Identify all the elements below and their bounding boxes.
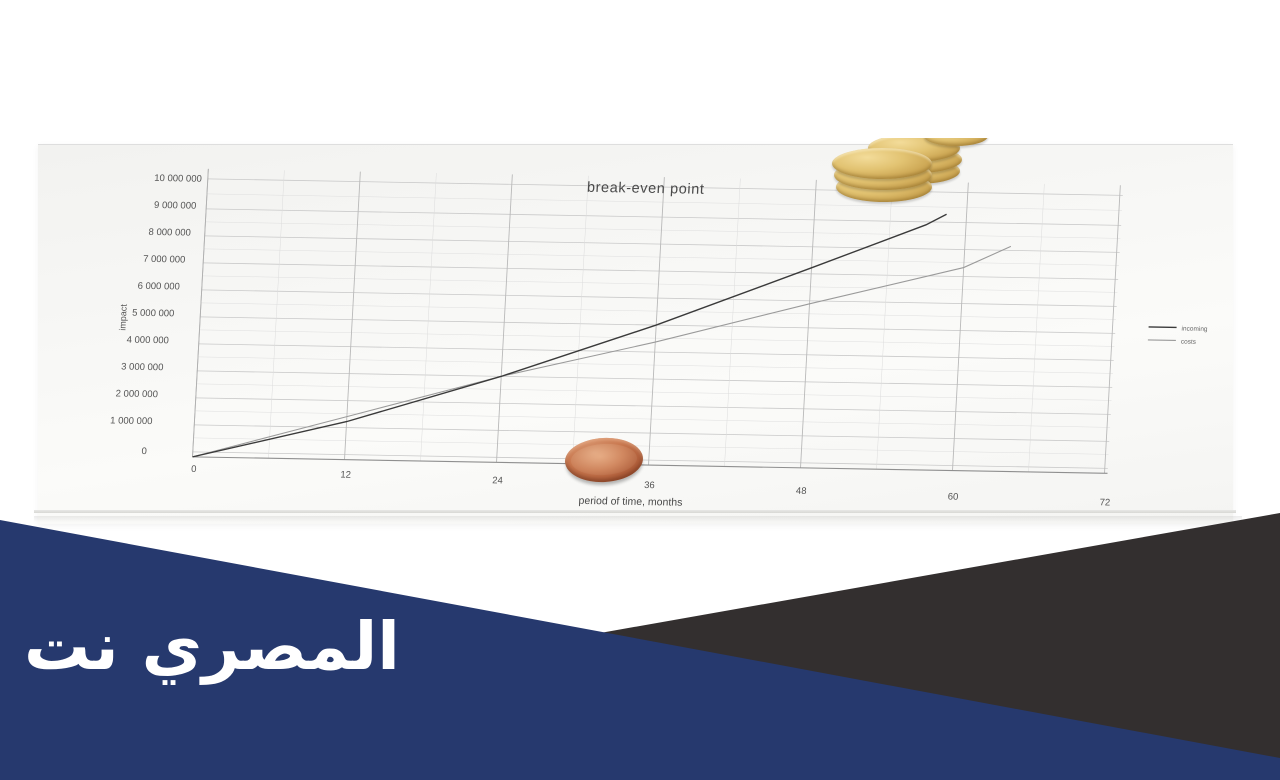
y-axis-line <box>193 169 209 457</box>
legend-swatch-costs <box>1148 340 1176 341</box>
x-tick-label: 12 <box>340 470 351 481</box>
x-axis-line <box>193 457 1108 473</box>
legend-label-costs: costs <box>1181 339 1197 346</box>
series-line-costs <box>193 232 1011 472</box>
x-tick-label: 24 <box>492 475 503 486</box>
legend-label-incoming: incoming <box>1181 326 1208 333</box>
y-axis-title: impact <box>117 304 128 331</box>
x-tick-label: 48 <box>796 486 807 497</box>
chart-photograph: 10 000 000 9 000 000 8 000 000 7 000 000… <box>28 138 1243 538</box>
x-tick-label: 36 <box>644 480 655 491</box>
series-line-incoming <box>193 201 947 470</box>
y-tick-label: 4 000 000 <box>126 335 169 347</box>
y-tick-label: 9 000 000 <box>154 200 197 212</box>
break-even-chart: 10 000 000 9 000 000 8 000 000 7 000 000… <box>28 138 1243 538</box>
y-tick-label: 6 000 000 <box>137 281 180 293</box>
gold-coin <box>832 148 932 179</box>
y-tick-label: 7 000 000 <box>143 254 186 266</box>
brand-watermark-text: المصري نت <box>24 614 400 680</box>
chart-legend: incoming costs <box>1148 325 1208 346</box>
x-tick-label: 0 <box>191 464 197 475</box>
y-tick-label: 5 000 000 <box>132 308 175 320</box>
y-tick-label: 0 <box>141 446 147 457</box>
chart-title: break-even point <box>586 180 704 198</box>
y-tick-label: 3 000 000 <box>121 362 164 374</box>
y-tick-label: 10 000 000 <box>154 173 202 185</box>
legend-swatch-incoming <box>1149 327 1177 328</box>
y-tick-label: 2 000 000 <box>115 388 158 400</box>
y-tick-label: 8 000 000 <box>148 227 191 239</box>
y-tick-label: 1 000 000 <box>110 415 153 427</box>
